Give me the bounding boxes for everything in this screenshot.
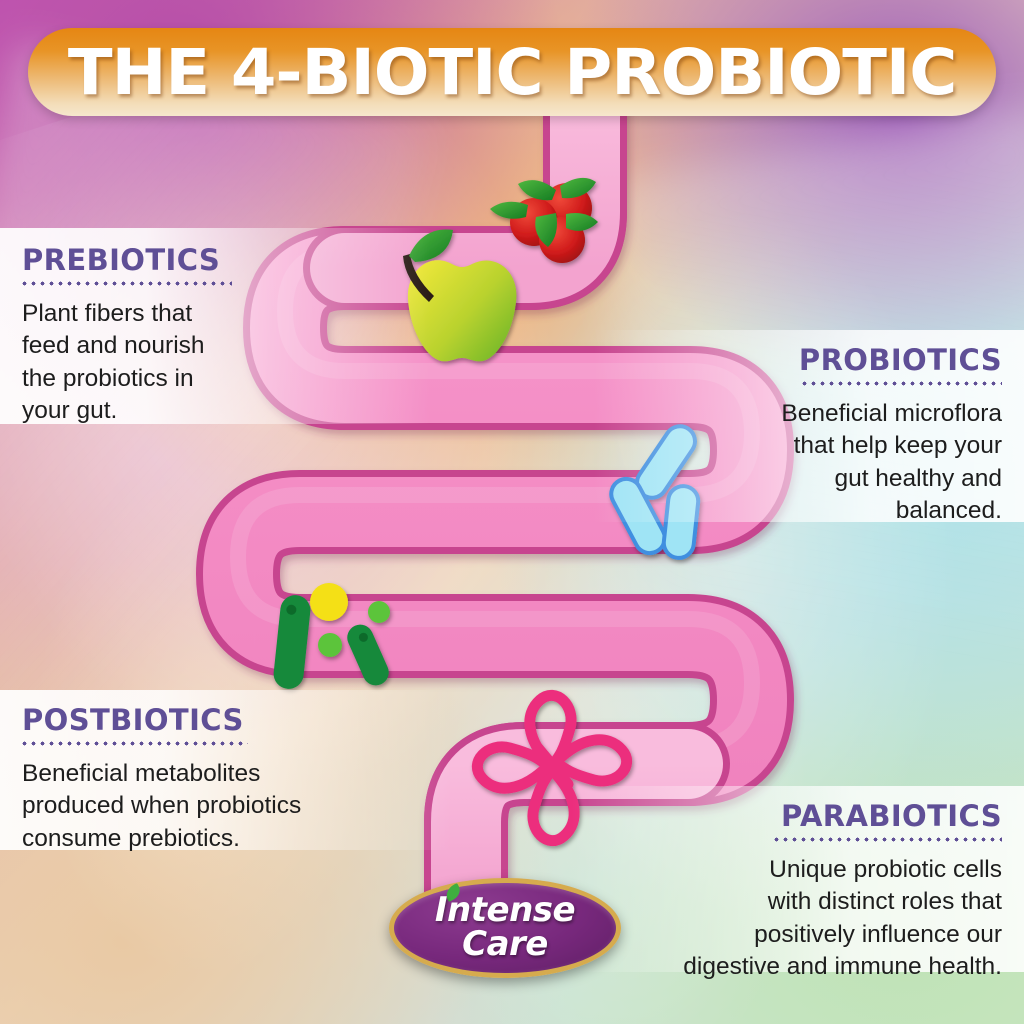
page-title: THE 4-BIOTIC PROBIOTIC (68, 36, 956, 109)
logo-text: Intense Care (389, 878, 621, 978)
panel-prebiotics-dotted-rule (22, 280, 232, 287)
green-dot-1 (368, 601, 390, 623)
panel-prebiotics-body: Plant fibers that feed and nourish the p… (22, 298, 430, 427)
panel-probiotics-body: Beneficial microflora that help keep you… (594, 398, 1002, 527)
panel-postbiotics: POSTBIOTICS Beneficial metabolites produ… (0, 690, 452, 850)
yellow-dot (310, 583, 348, 621)
panel-postbiotics-body: Beneficial metabolites produced when pro… (22, 758, 452, 855)
panel-postbiotics-dotted-rule (22, 740, 248, 747)
title-banner: THE 4-BIOTIC PROBIOTIC (28, 28, 996, 116)
panel-probiotics-heading: PROBIOTICS (594, 346, 1002, 375)
green-dot-2 (318, 633, 342, 657)
panel-parabiotics-dotted-rule (774, 836, 1002, 843)
panel-parabiotics: PARABIOTICS Unique probiotic cells with … (572, 786, 1024, 972)
brand-logo: Intense Care (389, 878, 621, 978)
infographic-canvas: THE 4-BIOTIC PROBIOTIC PREBIOTICS Plant … (0, 0, 1024, 1024)
panel-prebiotics: PREBIOTICS Plant fibers that feed and no… (0, 228, 430, 424)
logo-line-2: Care (462, 928, 548, 962)
panel-postbiotics-heading: POSTBIOTICS (22, 706, 452, 735)
panel-parabiotics-body: Unique probiotic cells with distinct rol… (572, 854, 1002, 983)
logo-line-1: Intense (435, 894, 575, 928)
panel-probiotics: PROBIOTICS Beneficial microflora that he… (594, 330, 1024, 522)
panel-probiotics-dotted-rule (802, 380, 1002, 387)
panel-prebiotics-heading: PREBIOTICS (22, 246, 430, 275)
panel-parabiotics-heading: PARABIOTICS (572, 802, 1002, 831)
